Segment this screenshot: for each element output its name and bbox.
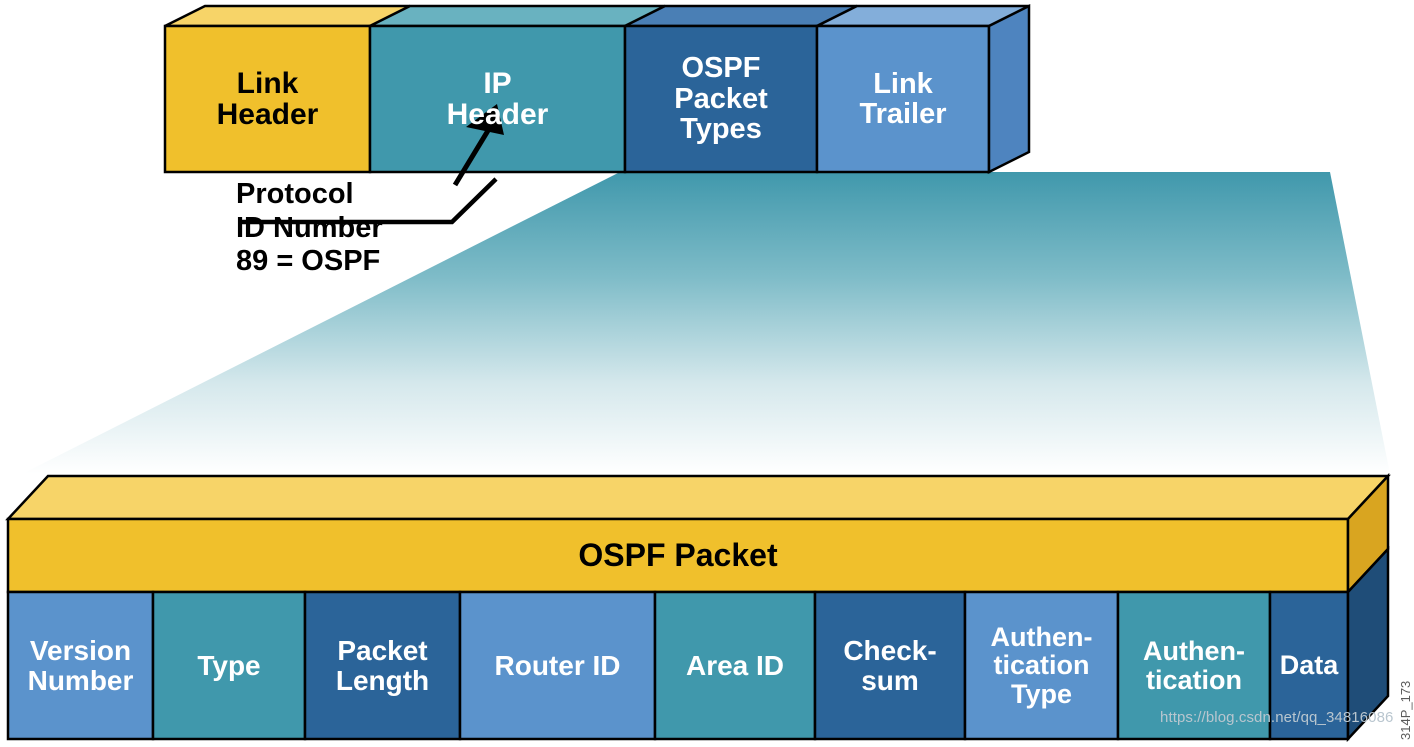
link-trailer-side-face bbox=[989, 6, 1029, 172]
ospf-packet-title-front-face bbox=[8, 519, 1348, 592]
watermark-url: https://blog.csdn.net/qq_34816086 bbox=[1160, 709, 1394, 726]
ospf-packet-title-top-face bbox=[8, 476, 1388, 519]
diagram-canvas bbox=[0, 0, 1414, 747]
field-cell-type bbox=[153, 592, 305, 739]
expansion-funnel bbox=[22, 172, 1390, 474]
ospf-packet-types-front-face bbox=[625, 26, 817, 172]
field-cell-router-id bbox=[460, 592, 655, 739]
link-trailer-front-face bbox=[817, 26, 989, 172]
ospf-encapsulation-diagram: LinkHeader IPHeader OSPFPacketTypes Link… bbox=[0, 0, 1414, 747]
field-cell-version-number bbox=[8, 592, 153, 739]
ip-header-top-face bbox=[370, 6, 665, 26]
field-cell-packet-length bbox=[305, 592, 460, 739]
field-cell-authentication-type bbox=[965, 592, 1118, 739]
field-cell-checksum bbox=[815, 592, 965, 739]
ip-header-front-face bbox=[370, 26, 625, 172]
corner-code-label: 314P_173 bbox=[1398, 681, 1413, 740]
link-header-front-face bbox=[165, 26, 370, 172]
field-cell-area-id bbox=[655, 592, 815, 739]
